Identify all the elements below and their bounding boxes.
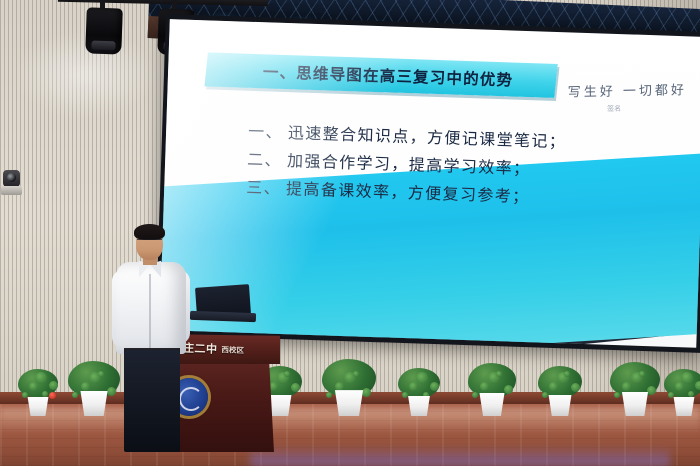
plant-leaf xyxy=(542,392,548,398)
plant-leaf xyxy=(639,371,645,377)
plant-pot xyxy=(406,396,432,416)
plant-leaf xyxy=(335,382,344,391)
plant-leaf xyxy=(326,392,332,398)
plant-leaf xyxy=(647,386,656,395)
whiteboard-handwriting-signature: 签名 xyxy=(607,104,621,114)
potted-plant-8 xyxy=(610,360,660,416)
plant-leaf xyxy=(564,371,570,377)
par-stage-light-icon xyxy=(85,7,123,54)
plant-leaf xyxy=(362,388,371,397)
plant-leaf xyxy=(42,391,48,397)
presenter-hair xyxy=(134,224,165,240)
plant-leaf xyxy=(29,382,38,391)
lectern-sign-campus: 西校区 xyxy=(221,344,244,356)
plant-leaf xyxy=(496,371,502,377)
presenter-glasses-icon xyxy=(137,239,162,245)
plant-leaf xyxy=(353,371,359,377)
floor-blue-reflection xyxy=(250,446,670,466)
potted-plant-6 xyxy=(468,362,516,416)
plant-leaf xyxy=(504,385,513,394)
plant-pot xyxy=(26,397,51,416)
bullet-number: 一、 xyxy=(248,122,283,142)
slide-title: 一、思维导图在高三复习中的优势 xyxy=(218,55,559,96)
plant-pot xyxy=(546,395,573,416)
plant-pot xyxy=(332,390,365,416)
plant-leaf xyxy=(72,392,78,398)
bullet-text: 加强合作学习，提高学习效率； xyxy=(287,151,531,178)
wall-camera-mount xyxy=(1,186,22,195)
plant-leaf xyxy=(668,392,674,398)
plant-leaf xyxy=(695,381,700,390)
plant-leaf xyxy=(81,382,90,391)
slide-bullet-list: 一、迅速整合知识点，方便记课堂笔记； 二、加强合作学习，提高学习效率； 三、提高… xyxy=(246,118,669,216)
plant-leaf xyxy=(409,382,418,391)
bullet-text: 迅速整合知识点，方便记课堂笔记； xyxy=(288,123,567,151)
potted-plant-7 xyxy=(538,366,582,416)
presenter-trousers xyxy=(124,350,180,452)
bullet-number: 二、 xyxy=(247,150,282,170)
potted-plant-9 xyxy=(664,370,700,416)
plant-leaf xyxy=(688,391,694,397)
plant-leaf xyxy=(472,392,478,398)
plant-leaf xyxy=(614,392,620,398)
presenter xyxy=(104,222,200,452)
plant-pot xyxy=(477,393,507,416)
potted-plant-1 xyxy=(18,370,58,416)
plant-flower xyxy=(49,392,56,399)
plant-leaf xyxy=(402,392,408,398)
plant-leaf xyxy=(416,372,428,384)
plant-leaf xyxy=(480,382,489,391)
potted-plant-5 xyxy=(398,368,440,416)
presenter-shirt xyxy=(116,262,186,354)
plant-leaf xyxy=(284,371,290,377)
bullet-number: 三、 xyxy=(246,178,281,198)
plant-leaf xyxy=(675,382,684,391)
plant-pot xyxy=(620,392,651,416)
bullet-text: 提高备课效率，方便复习参考； xyxy=(286,179,530,206)
plant-leaf xyxy=(571,383,580,392)
plant-leaf xyxy=(22,392,28,398)
potted-plant-4 xyxy=(322,356,376,416)
plant-pot xyxy=(672,397,697,416)
plant-leaf xyxy=(49,381,58,390)
plant-leaf xyxy=(291,383,300,392)
auditorium-presentation-photo: 一、思维导图在高三复习中的优势 一、迅速整合知识点，方便记课堂笔记； 二、加强合… xyxy=(0,0,700,466)
whiteboard-handwriting: 写生好 一切都好 xyxy=(568,79,687,100)
plant-leaf xyxy=(430,382,439,391)
presenter-shirt-placket xyxy=(149,274,151,350)
wall-camera-icon xyxy=(3,170,20,187)
